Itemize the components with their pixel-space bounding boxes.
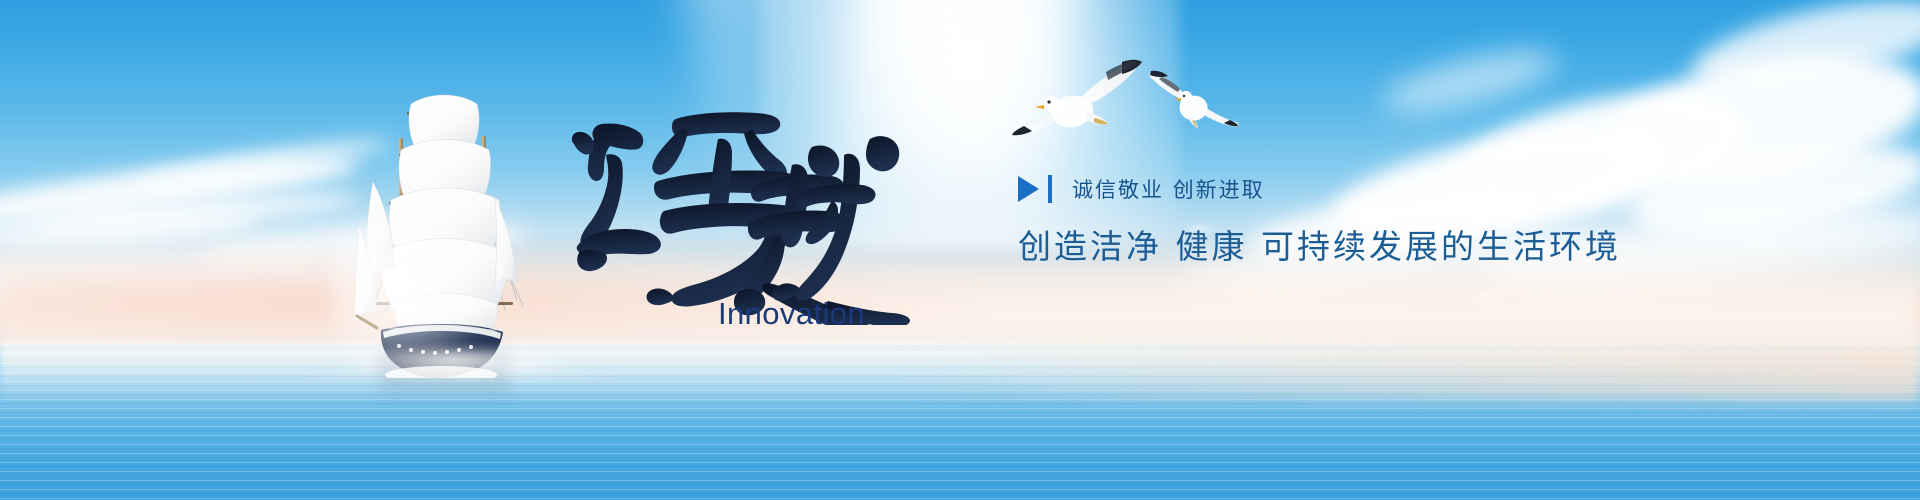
tagline-primary-text: 诚信敬业 创新进取 [1072,174,1265,204]
hero-banner: Innovation 诚信敬业 创新进取 创造洁净 健康 可持续发展的生活环境 [0,0,1920,500]
tagline-secondary-text: 创造洁净 健康 可持续发展的生活环境 [1018,220,1621,268]
seagull-icon-large [1010,52,1145,147]
tagline-row-primary: 诚信敬业 创新进取 [1018,172,1621,206]
ship-wake-outer [300,360,620,382]
headline-subtitle-en: Innovation [718,296,865,332]
tagline-block: 诚信敬业 创新进取 创造洁净 健康 可持续发展的生活环境 [1018,172,1621,268]
vertical-bar-icon [1048,175,1052,203]
tall-ship-illustration [355,78,530,378]
calligraphy-headline [560,95,990,325]
seagull-icon-small [1148,68,1240,135]
cumulus-cloud [1378,39,1563,123]
sea-warm-reflection [900,345,1920,400]
play-triangle-icon [1018,176,1039,202]
